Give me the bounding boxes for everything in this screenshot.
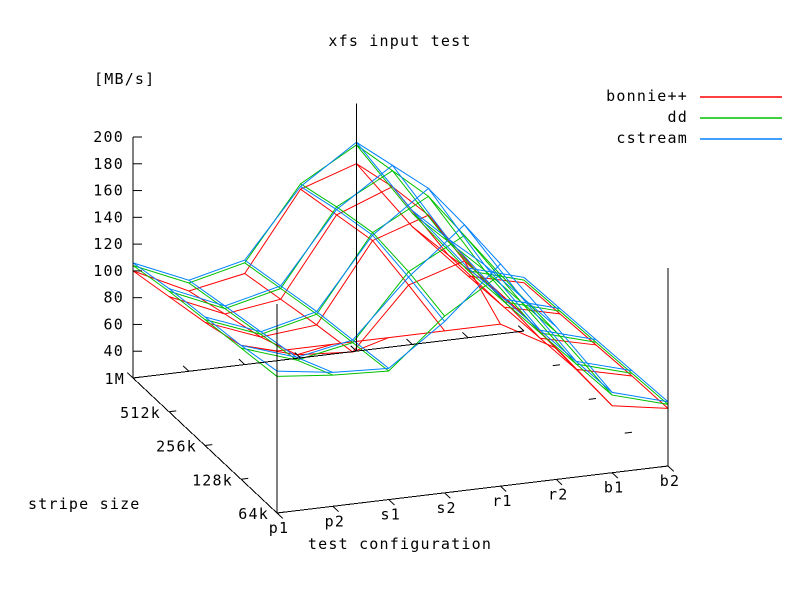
legend-label-dd: dd [668,108,688,126]
z-unit-label: [MB/s] [94,70,155,88]
axes [127,103,674,518]
page-title: xfs input test [328,32,471,50]
z-tick-label-120: 120 [93,235,124,253]
y-tick-label-128k: 128k [192,471,233,489]
surface-plot-canvas: xfs input test [MB/s] 406080100120140160… [0,0,800,600]
legend: bonnie++ddcstream [606,87,782,147]
z-tick-label-140: 140 [93,208,124,226]
plot-title-group: xfs input test [328,32,471,50]
x-tick-label-b2: b2 [660,472,680,490]
x-axis-title: test configuration [308,535,492,553]
x-tick-label-s1: s1 [380,506,400,524]
x-tick-label-s2: s2 [436,499,456,517]
plot-page: xfs input test [MB/s] 406080100120140160… [0,0,800,600]
x-tick-label-p2: p2 [325,512,345,530]
y-tick-label-512k: 512k [120,404,161,422]
z-tick-label-60: 60 [104,315,124,333]
z-tick-label-180: 180 [93,155,124,173]
z-tick-label-160: 160 [93,182,124,200]
x-tick-label-p1: p1 [269,519,289,537]
z-tick-label-80: 80 [104,289,124,307]
z-tick-label-200: 200 [93,128,124,146]
x-tick-label-r2: r2 [548,485,568,503]
y-tick-label-64k: 64k [238,505,269,523]
axis-titles: test configuration stripe size [28,495,492,553]
z-tick-label-40: 40 [104,342,124,360]
legend-label-bonniepp: bonnie++ [606,87,688,105]
y-tick-label-1M: 1M [105,370,125,388]
x-tick-label-r1: r1 [492,492,512,510]
z-unit-label-group: [MB/s] [94,70,155,88]
z-tick-label-100: 100 [93,262,124,280]
legend-label-cstream: cstream [616,129,688,147]
y-axis-title: stripe size [28,495,141,513]
y-tick-label-256k: 256k [156,438,197,456]
x-tick-label-b1: b1 [604,479,624,497]
